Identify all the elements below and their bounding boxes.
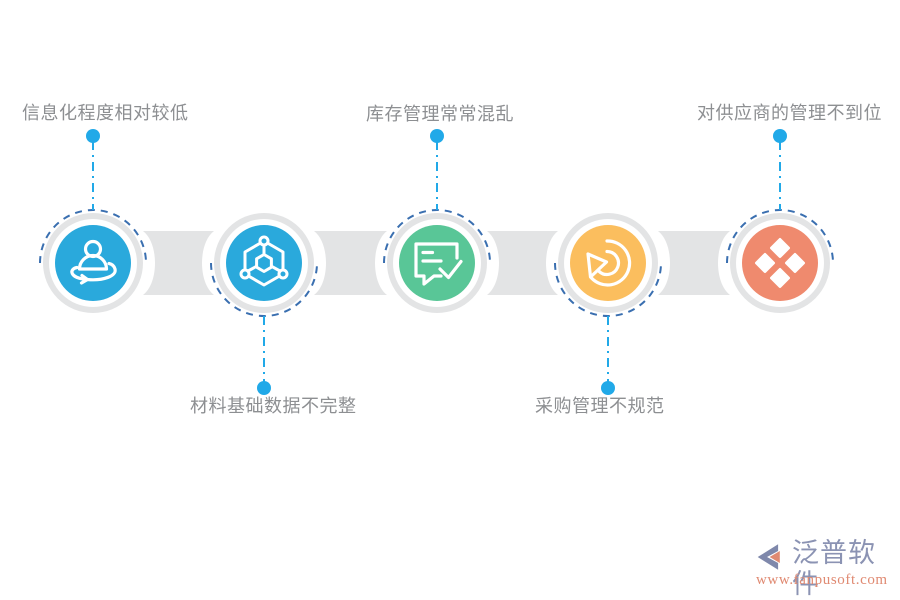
node-label-5: 对供应商的管理不到位 xyxy=(697,104,882,122)
diagram-canvas: 信息化程度相对较低 材料基础数据不完整 库存管理常常混乱 采购管理不规范 对供应… xyxy=(0,0,900,600)
watermark-brand: 泛普软件 xyxy=(792,538,892,600)
watermark-url: www.fanpusoft.com xyxy=(756,572,888,589)
node-label-1: 信息化程度相对较低 xyxy=(22,104,189,122)
node-label-4: 采购管理不规范 xyxy=(535,397,665,415)
diagram-labels: 信息化程度相对较低 材料基础数据不完整 库存管理常常混乱 采购管理不规范 对供应… xyxy=(0,0,900,600)
fanpu-logo-icon xyxy=(756,542,790,572)
watermark-logo: 泛普软件 www.fanpusoft.com xyxy=(752,538,892,592)
node-label-3: 库存管理常常混乱 xyxy=(366,105,514,123)
node-label-2: 材料基础数据不完整 xyxy=(190,397,357,415)
